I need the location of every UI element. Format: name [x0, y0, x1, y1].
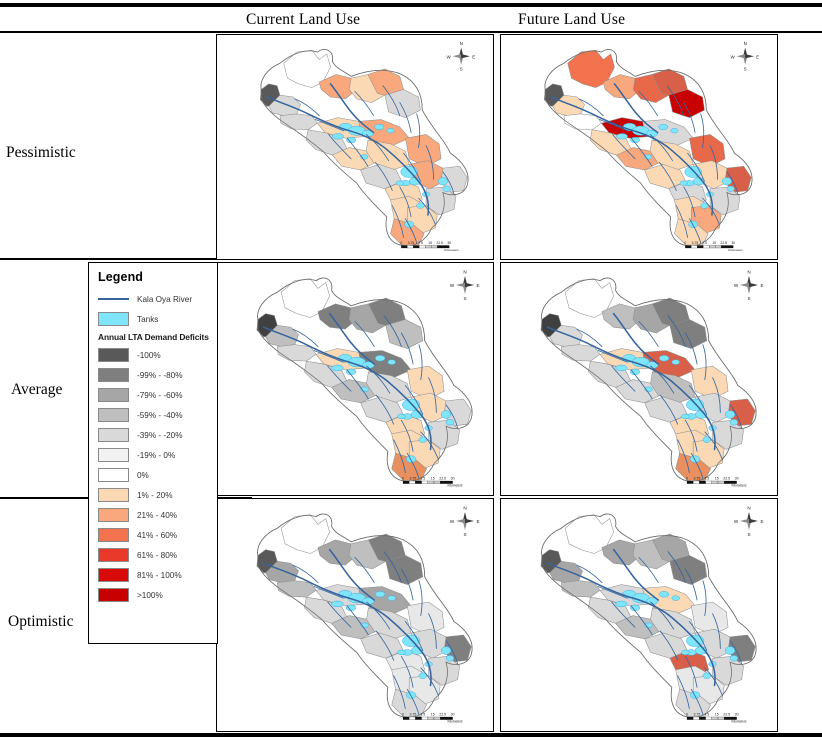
svg-text:30: 30	[451, 712, 455, 716]
legend-class-item: -59% - -40%	[98, 405, 217, 425]
legend-class-swatch	[98, 548, 129, 562]
legend-class-item: -99% - -80%	[98, 365, 217, 385]
legend-class-label: 81% - 100%	[137, 571, 182, 580]
north-arrow-icon: NSWE	[731, 41, 760, 72]
svg-text:15: 15	[712, 241, 716, 245]
svg-text:W: W	[447, 54, 452, 59]
svg-text:3.75: 3.75	[692, 241, 699, 245]
column-header-current-land-use: Current Land Use	[246, 11, 360, 29]
scale-bar: 03.757.51522.530Kilometers	[686, 712, 747, 723]
legend-subtitle: Annual LTA Demand Deficits	[98, 332, 217, 342]
svg-text:0: 0	[400, 241, 402, 245]
map-panel-optimistic-future: NSWE03.757.51522.530Kilometers	[500, 498, 778, 732]
header-separator	[0, 31, 822, 33]
svg-text:0: 0	[684, 241, 686, 245]
legend-class-item: 81% - 100%	[98, 565, 217, 585]
svg-text:Kilometers: Kilometers	[731, 484, 746, 488]
legend-class-item: >100%	[98, 585, 217, 605]
legend-class-swatch	[98, 388, 129, 402]
river-line-symbol	[98, 298, 129, 300]
svg-text:S: S	[747, 532, 750, 537]
scale-bar: 03.757.51522.530Kilometers	[400, 241, 459, 252]
basin-map-graphic: NSWE03.757.51522.530Kilometers	[217, 263, 493, 495]
svg-text:22.5: 22.5	[436, 241, 443, 245]
legend-class-label: -99% - -80%	[137, 371, 183, 380]
svg-text:W: W	[734, 519, 739, 524]
svg-text:Kilometers: Kilometers	[444, 248, 459, 252]
column-header-future-land-use: Future Land Use	[518, 11, 625, 29]
svg-text:7.5: 7.5	[704, 476, 709, 480]
legend-class-item: -39% - -20%	[98, 425, 217, 445]
svg-text:N: N	[463, 506, 466, 511]
map-panel-average-current: NSWE03.757.51522.530Kilometers	[216, 262, 494, 496]
svg-text:W: W	[734, 283, 739, 288]
svg-text:W: W	[450, 519, 455, 524]
legend-class-item: 21% - 40%	[98, 505, 217, 525]
legend-class-label: -100%	[137, 351, 161, 360]
svg-text:0: 0	[686, 712, 688, 716]
legend-class-label: -39% - -20%	[137, 431, 183, 440]
svg-text:W: W	[450, 283, 455, 288]
svg-text:N: N	[747, 270, 750, 275]
legend-class-swatch	[98, 508, 129, 522]
svg-text:N: N	[744, 41, 747, 46]
legend-item-label: Tanks	[137, 315, 158, 324]
svg-text:S: S	[747, 296, 750, 301]
legend-class-label: 0%	[137, 471, 149, 480]
svg-text:0: 0	[402, 476, 404, 480]
map-panel-optimistic-current: NSWE03.757.51522.530Kilometers	[216, 498, 494, 732]
svg-text:30: 30	[735, 476, 739, 480]
legend-class-swatch	[98, 588, 129, 602]
svg-text:Kilometers: Kilometers	[447, 484, 462, 488]
svg-text:S: S	[463, 532, 466, 537]
legend-class-swatch	[98, 468, 129, 482]
basin-map-graphic: NSWE03.757.51522.530Kilometers	[501, 499, 777, 731]
svg-text:15: 15	[431, 712, 435, 716]
svg-text:3.75: 3.75	[410, 476, 417, 480]
legend-class-swatch	[98, 368, 129, 382]
svg-text:30: 30	[451, 476, 455, 480]
row-separator-1	[0, 258, 252, 260]
legend-class-item: -79% - -60%	[98, 385, 217, 405]
scale-bar: 03.757.51522.530Kilometers	[402, 476, 463, 487]
svg-text:N: N	[460, 41, 463, 46]
legend-class-item: -100%	[98, 345, 217, 365]
basin-map-graphic: NSWE03.757.51522.530Kilometers	[217, 35, 493, 259]
svg-text:S: S	[744, 67, 747, 72]
table-top-border	[0, 3, 822, 7]
svg-text:22.5: 22.5	[720, 241, 727, 245]
map-panel-average-future: NSWE03.757.51522.530Kilometers	[500, 262, 778, 496]
legend-class-item: 1% - 20%	[98, 485, 217, 505]
legend-item-river: Kala Oya River	[98, 289, 217, 309]
svg-text:30: 30	[447, 241, 451, 245]
svg-text:E: E	[476, 519, 479, 524]
north-arrow-icon: NSWE	[447, 41, 476, 72]
legend-item-tanks: Tanks	[98, 309, 217, 329]
svg-text:15: 15	[715, 712, 719, 716]
north-arrow-icon: NSWE	[450, 270, 480, 302]
north-arrow-icon: NSWE	[734, 270, 764, 302]
svg-text:3.75: 3.75	[694, 476, 701, 480]
basin-map-graphic: NSWE03.757.51522.530Kilometers	[501, 263, 777, 495]
svg-text:3.75: 3.75	[408, 241, 415, 245]
svg-text:22.5: 22.5	[723, 476, 730, 480]
legend-class-swatch	[98, 448, 129, 462]
legend-class-swatch	[98, 408, 129, 422]
legend-class-label: 61% - 80%	[137, 551, 177, 560]
svg-text:Kilometers: Kilometers	[728, 248, 743, 252]
svg-text:15: 15	[715, 476, 719, 480]
svg-text:N: N	[463, 270, 466, 275]
svg-text:3.75: 3.75	[410, 712, 417, 716]
svg-text:E: E	[760, 283, 763, 288]
svg-text:22.5: 22.5	[439, 712, 446, 716]
svg-text:0: 0	[402, 712, 404, 716]
legend-class-item: -19% - 0%	[98, 445, 217, 465]
legend-class-swatch	[98, 528, 129, 542]
legend-class-item: 41% - 60%	[98, 525, 217, 545]
row-label-pessimistic: Pessimistic	[6, 144, 76, 162]
legend-class-label: 21% - 40%	[137, 511, 177, 520]
basin-map-graphic: NSWE03.757.51522.530Kilometers	[501, 35, 777, 259]
legend-class-label: -19% - 0%	[137, 451, 175, 460]
svg-text:30: 30	[731, 241, 735, 245]
table-bottom-border	[0, 733, 822, 737]
svg-text:Kilometers: Kilometers	[731, 720, 746, 724]
legend-class-label: -59% - -40%	[137, 411, 183, 420]
svg-text:7.5: 7.5	[420, 712, 425, 716]
svg-text:15: 15	[428, 241, 432, 245]
scale-bar: 03.757.51522.530Kilometers	[684, 241, 743, 252]
north-arrow-icon: NSWE	[450, 506, 480, 538]
svg-text:0: 0	[686, 476, 688, 480]
map-legend: Legend Kala Oya River Tanks Annual LTA D…	[88, 262, 218, 644]
legend-item-label: Kala Oya River	[137, 295, 192, 304]
north-arrow-icon: NSWE	[734, 506, 764, 538]
svg-text:3.75: 3.75	[694, 712, 701, 716]
row-label-average: Average	[11, 381, 62, 399]
legend-class-label: >100%	[137, 591, 163, 600]
svg-text:7.5: 7.5	[418, 241, 423, 245]
legend-class-swatch	[98, 488, 129, 502]
map-panel-pessimistic-current: NSWE03.757.51522.530Kilometers	[216, 34, 494, 260]
legend-class-list: -100%-99% - -80%-79% - -60%-59% - -40%-3…	[89, 345, 217, 605]
legend-class-swatch	[98, 568, 129, 582]
row-label-optimistic: Optimistic	[8, 613, 73, 631]
svg-text:Kilometers: Kilometers	[447, 720, 462, 724]
legend-class-label: 1% - 20%	[137, 491, 173, 500]
svg-text:S: S	[463, 296, 466, 301]
tanks-swatch	[98, 312, 129, 326]
svg-text:22.5: 22.5	[439, 476, 446, 480]
legend-class-swatch	[98, 348, 129, 362]
basin-map-graphic: NSWE03.757.51522.530Kilometers	[217, 499, 493, 731]
svg-text:E: E	[472, 54, 475, 59]
legend-class-item: 0%	[98, 465, 217, 485]
svg-text:7.5: 7.5	[420, 476, 425, 480]
legend-class-swatch	[98, 428, 129, 442]
svg-text:N: N	[747, 506, 750, 511]
map-panel-pessimistic-future: NSWE03.757.51522.530Kilometers	[500, 34, 778, 260]
legend-title: Legend	[98, 270, 217, 284]
svg-text:30: 30	[735, 712, 739, 716]
legend-class-label: -79% - -60%	[137, 391, 183, 400]
svg-text:W: W	[731, 54, 736, 59]
svg-text:7.5: 7.5	[704, 712, 709, 716]
svg-text:22.5: 22.5	[723, 712, 730, 716]
svg-text:E: E	[476, 283, 479, 288]
svg-text:7.5: 7.5	[702, 241, 707, 245]
svg-text:15: 15	[431, 476, 435, 480]
scale-bar: 03.757.51522.530Kilometers	[686, 476, 747, 487]
scale-bar: 03.757.51522.530Kilometers	[402, 712, 463, 723]
legend-class-label: 41% - 60%	[137, 531, 177, 540]
svg-text:S: S	[460, 67, 463, 72]
legend-class-item: 61% - 80%	[98, 545, 217, 565]
svg-text:E: E	[760, 519, 763, 524]
svg-text:E: E	[756, 54, 759, 59]
